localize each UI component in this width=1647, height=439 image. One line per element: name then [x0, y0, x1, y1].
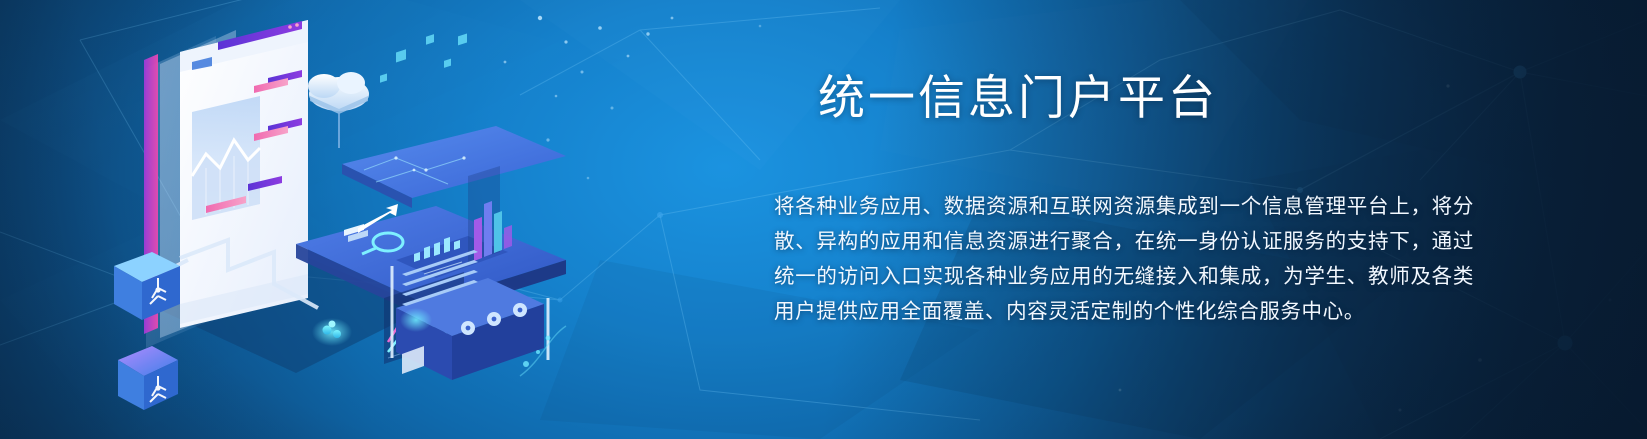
circuit-board-panel	[342, 33, 566, 208]
cloud-icon	[308, 72, 369, 148]
banner-description: 将各种业务应用、数据资源和互联网资源集成到一个信息管理平台上，将分散、异构的应用…	[774, 189, 1474, 329]
isometric-data-platform-illustration	[96, 8, 616, 432]
hero-banner: 统一信息门户平台 将各种业务应用、数据资源和互联网资源集成到一个信息管理平台上，…	[0, 0, 1647, 439]
network-cube-icon-2	[118, 346, 178, 410]
cyan-node-icon	[312, 318, 352, 346]
bar-chart-panel	[468, 166, 512, 262]
banner-copy: 统一信息门户平台 将各种业务应用、数据资源和互联网资源集成到一个信息管理平台上，…	[774, 72, 1490, 329]
browser-dashboard-window	[180, 20, 308, 328]
page-title: 统一信息门户平台	[818, 72, 1490, 125]
